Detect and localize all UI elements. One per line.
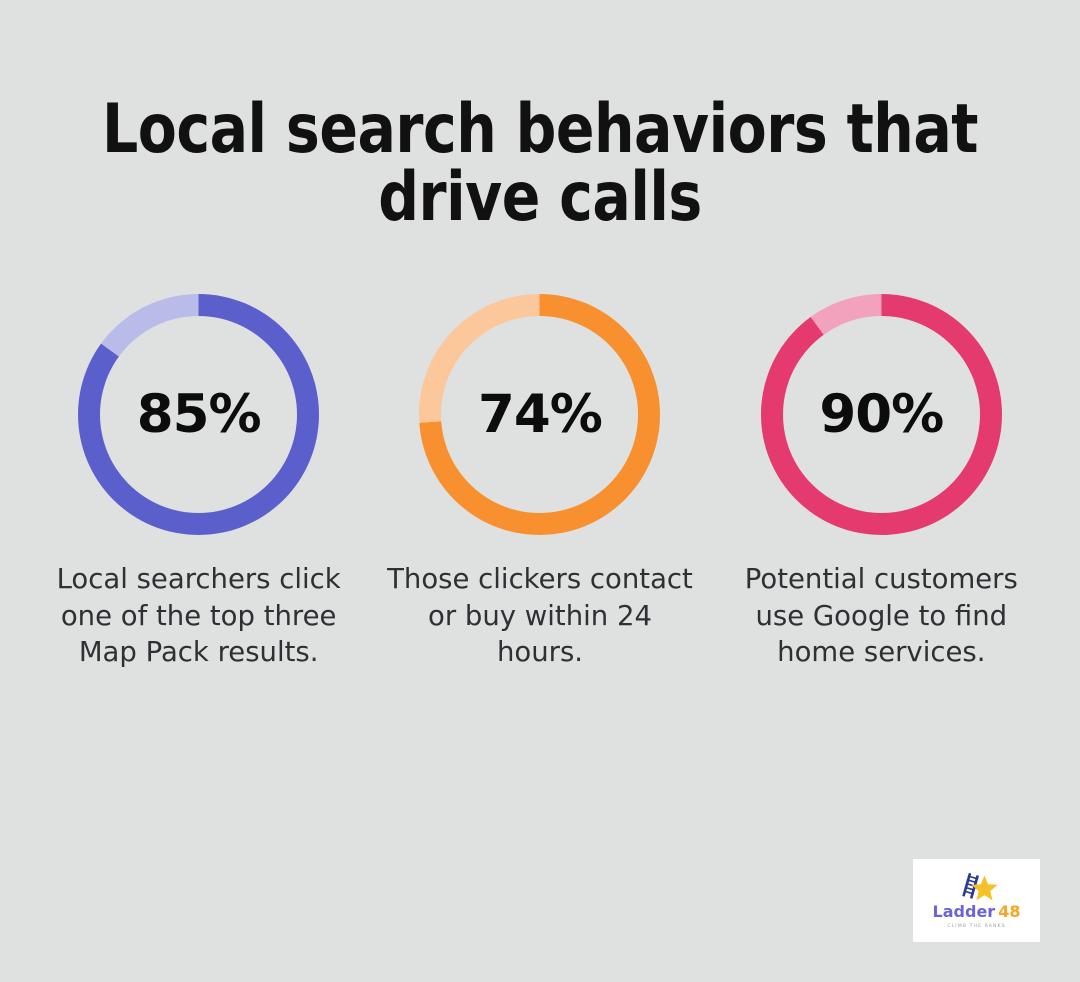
logo-tagline: CLIMB THE RANKS bbox=[947, 924, 1005, 929]
logo-badge: Ladder48 CLIMB THE RANKS bbox=[913, 859, 1040, 942]
stat-card-3: 90% Potential customers use Google to fi… bbox=[711, 294, 1052, 698]
donut-chart-3: 90% bbox=[761, 294, 1002, 535]
title-block: Local search behaviors that drive calls bbox=[0, 96, 1080, 232]
stat-card-1: 85% Local searchers click one of the top… bbox=[28, 294, 369, 698]
donut-value-3: 90% bbox=[819, 388, 943, 441]
logo-wordmark: Ladder48 bbox=[933, 904, 1021, 920]
donut-hole-3: 90% bbox=[783, 316, 980, 513]
donut-chart-2: 74% bbox=[419, 294, 660, 535]
stat-caption-1: Local searchers click one of the top thr… bbox=[40, 561, 358, 671]
stats-row: 85% Local searchers click one of the top… bbox=[0, 294, 1080, 698]
donut-value-2: 74% bbox=[478, 388, 602, 441]
donut-hole-2: 74% bbox=[441, 316, 638, 513]
stat-caption-3: Potential customers use Google to find h… bbox=[722, 561, 1040, 671]
donut-chart-1: 85% bbox=[78, 294, 319, 535]
stat-caption-2: Those clickers contact or buy within 24 … bbox=[381, 561, 699, 671]
donut-value-1: 85% bbox=[137, 388, 261, 441]
logo-word-number: 48 bbox=[998, 902, 1020, 921]
stat-card-2: 74% Those clickers contact or buy within… bbox=[369, 294, 710, 698]
infographic-canvas: Local search behaviors that drive calls … bbox=[0, 0, 1080, 982]
logo-word-main: Ladder bbox=[933, 902, 996, 921]
page-title: Local search behaviors that drive calls bbox=[75, 96, 1005, 232]
donut-hole-1: 85% bbox=[100, 316, 297, 513]
ladder-star-icon bbox=[953, 872, 1001, 902]
